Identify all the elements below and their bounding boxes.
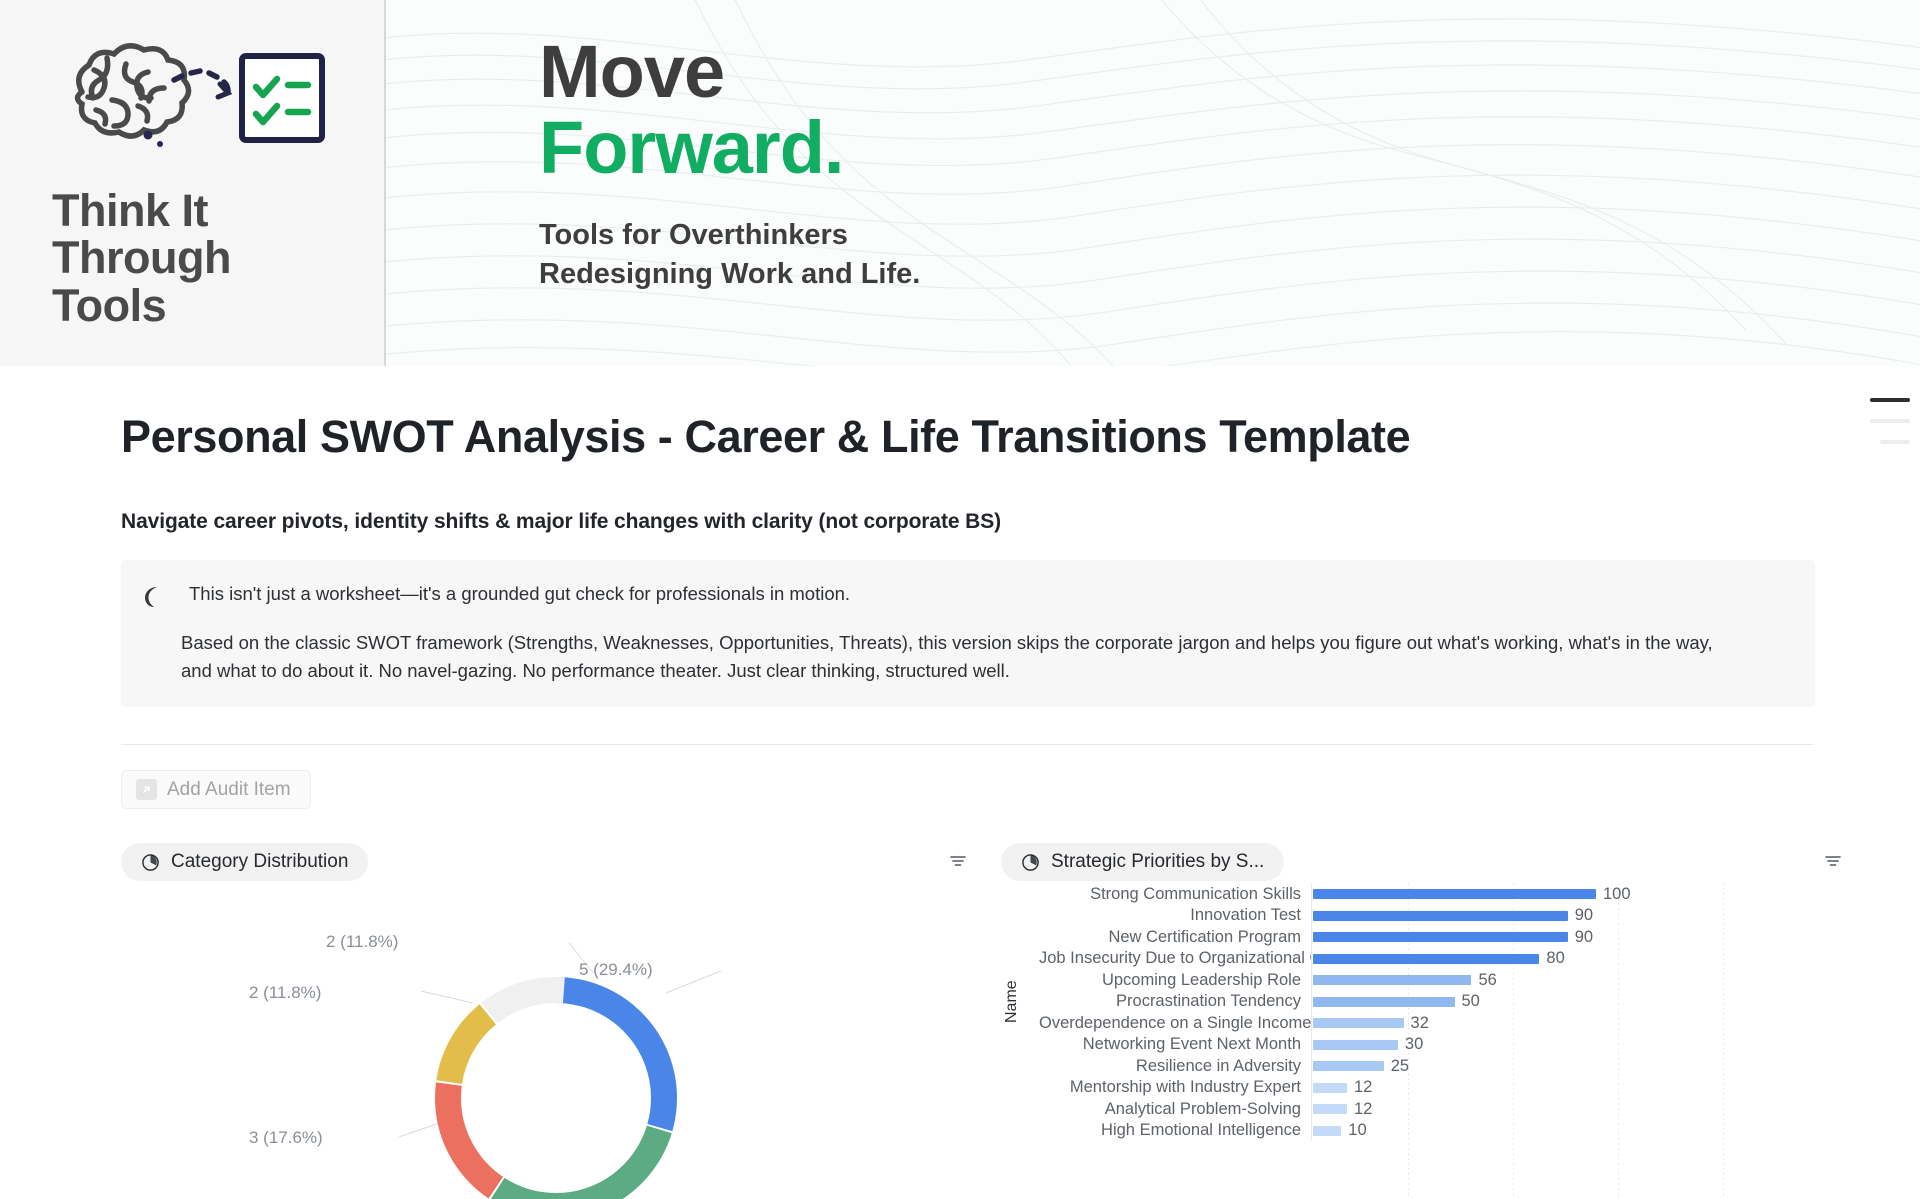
bar-chart-row: Resilience in Adversity25 [1039, 1055, 1871, 1077]
bar-value-label: 10 [1348, 1121, 1366, 1140]
bar-fill[interactable] [1313, 911, 1568, 921]
intro-callout-body: This isn't just a worksheet—it's a groun… [181, 580, 1789, 685]
bar-track: 80 [1311, 948, 1871, 970]
add-audit-item-label: Add Audit Item [167, 779, 291, 801]
bar-category-label: Procrastination Tendency [1039, 992, 1311, 1011]
callout-paragraph: Based on the classic SWOT framework (Str… [181, 629, 1741, 685]
bar-track: 90 [1311, 926, 1871, 948]
strategic-priorities-chart-body: Name Strong Communication Skills100Innov… [1001, 883, 1871, 1199]
bar-fill[interactable] [1313, 1018, 1404, 1028]
strategic-priorities-chip[interactable]: Strategic Priorities by S... [1001, 843, 1284, 881]
bar-category-label: Resilience in Adversity [1039, 1057, 1311, 1076]
checklist-clipboard-icon [242, 56, 322, 140]
bar-fill[interactable] [1313, 954, 1539, 964]
strategic-priorities-header: Strategic Priorities by S... [1001, 841, 1871, 883]
expand-arrow-icon [136, 779, 157, 800]
pie-chart-icon [141, 853, 160, 872]
bar-track: 25 [1311, 1055, 1871, 1077]
bar-chart-row: Overdependence on a Single Income Stre..… [1039, 1012, 1871, 1034]
expand-arrow-icon-svg [140, 783, 153, 796]
logo-pane: Think It Through Tools [0, 0, 386, 366]
bar-chart-y-axis-label: Name [1003, 981, 1021, 1024]
banner-headline-line1: Move [539, 34, 920, 110]
document-body: Personal SWOT Analysis - Career & Life T… [0, 412, 1920, 1199]
bar-chart-rows: Strong Communication Skills100Innovation… [1039, 883, 1871, 1199]
bar-track: 12 [1311, 1098, 1871, 1120]
bar-chart-row: Job Insecurity Due to Organizational Cha… [1039, 948, 1871, 970]
bar-chart-row: New Certification Program90 [1039, 926, 1871, 948]
bar-fill[interactable] [1313, 1104, 1347, 1114]
strategic-priorities-chart-panel: Strategic Priorities by S... Name Strong… [1001, 841, 1871, 1199]
add-audit-item-button[interactable]: Add Audit Item [121, 770, 311, 809]
bar-value-label: 90 [1575, 928, 1593, 947]
filter-icon-svg [1823, 851, 1843, 871]
bar-chart-row: Analytical Problem-Solving12 [1039, 1098, 1871, 1120]
bar-category-label: Networking Event Next Month [1039, 1035, 1311, 1054]
donut-label-grey: 2 (11.8%) [326, 932, 398, 952]
thought-dot-small [157, 141, 163, 147]
bar-category-label: Mentorship with Industry Expert [1039, 1078, 1311, 1097]
strategic-priorities-chip-label: Strategic Priorities by S... [1051, 851, 1264, 873]
bar-value-label: 30 [1405, 1035, 1423, 1054]
bar-value-label: 90 [1575, 906, 1593, 925]
charts-row: Category Distribution [121, 841, 1871, 1199]
horizontal-bar-chart: Name Strong Communication Skills100Innov… [1001, 883, 1871, 1199]
category-distribution-chip-label: Category Distribution [171, 851, 348, 873]
bar-category-label: Analytical Problem-Solving [1039, 1100, 1311, 1119]
donut-ring [448, 990, 664, 1199]
bar-value-label: 56 [1478, 971, 1496, 990]
logo-wordmark-line-3: Tools [52, 282, 384, 329]
bar-chart-row: Upcoming Leadership Role56 [1039, 969, 1871, 991]
bar-fill[interactable] [1313, 1061, 1384, 1071]
bar-track: 90 [1311, 905, 1871, 927]
donut-label-red: 3 (17.6%) [249, 1128, 323, 1148]
banner-tagline-line2: Redesigning Work and Life. [539, 255, 920, 293]
outline-mark-active[interactable] [1870, 398, 1910, 402]
bar-value-label: 25 [1391, 1057, 1409, 1076]
bar-chart-row: Networking Event Next Month30 [1039, 1034, 1871, 1056]
bar-chart-row: Innovation Test90 [1039, 905, 1871, 927]
filter-icon-svg [948, 851, 968, 871]
bar-chart-row: Procrastination Tendency50 [1039, 991, 1871, 1013]
outline-mark-2[interactable] [1880, 440, 1910, 444]
donut-label-blue: 5 (29.4%) [579, 960, 653, 980]
bar-track: 32 [1311, 1012, 1871, 1034]
banner-tagline-line1: Tools for Overthinkers [539, 216, 920, 254]
bar-chart-row: Mentorship with Industry Expert12 [1039, 1077, 1871, 1099]
bar-track: 30 [1311, 1034, 1871, 1056]
bar-fill[interactable] [1313, 975, 1471, 985]
banner-artwork-pane: Move Forward. Tools for Overthinkers Red… [386, 0, 1920, 366]
logo-artwork [52, 40, 342, 165]
bar-fill[interactable] [1313, 1083, 1347, 1093]
bar-value-label: 100 [1603, 885, 1631, 904]
bar-category-label: Overdependence on a Single Income Stre..… [1039, 1014, 1311, 1033]
donut-label-yellow: 2 (11.8%) [249, 983, 321, 1003]
dashed-arrow-icon [174, 71, 228, 97]
bar-track: 56 [1311, 969, 1871, 991]
brand-banner: Think It Through Tools [0, 0, 1920, 366]
section-divider [121, 744, 1813, 745]
logo-svg [52, 40, 342, 165]
bar-value-label: 32 [1411, 1014, 1429, 1033]
bar-track: 12 [1311, 1077, 1871, 1099]
filter-icon[interactable] [1823, 851, 1843, 876]
bar-value-label: 80 [1546, 949, 1564, 968]
tangled-brain-icon [78, 46, 189, 136]
callout-lead-text: This isn't just a worksheet—it's a groun… [181, 580, 1789, 608]
bar-fill[interactable] [1313, 1126, 1341, 1136]
bar-category-label: Innovation Test [1039, 906, 1311, 925]
donut-chart-svg [121, 883, 1001, 1199]
page-subtitle: Navigate career pivots, identity shifts … [121, 510, 1920, 534]
moon-icon-svg [139, 584, 165, 610]
banner-headline-line2: Forward. [539, 110, 920, 186]
bar-value-label: 12 [1354, 1100, 1372, 1119]
category-distribution-header: Category Distribution [121, 841, 1001, 883]
category-distribution-chart-body: 2 (11.8%) 2 (11.8%) 3 (17.6%) 5 (29.4%) [121, 883, 1001, 1199]
bar-category-label: High Emotional Intelligence [1039, 1121, 1311, 1140]
bar-fill[interactable] [1313, 1040, 1398, 1050]
thought-dot-large [144, 131, 153, 140]
intro-callout: This isn't just a worksheet—it's a groun… [121, 560, 1815, 707]
bar-category-label: Upcoming Leadership Role [1039, 971, 1311, 990]
logo-wordmark-line-1: Think It [52, 187, 384, 234]
moon-icon [139, 580, 167, 685]
logo-wordmark: Think It Through Tools [52, 187, 384, 329]
filter-icon[interactable] [948, 851, 968, 876]
pie-chart-icon [1021, 853, 1040, 872]
pie-chart-icon-svg [141, 853, 160, 872]
bar-category-label: Job Insecurity Due to Organizational Cha… [1039, 949, 1311, 968]
bar-track: 100 [1311, 883, 1871, 905]
category-distribution-chip[interactable]: Category Distribution [121, 843, 368, 881]
bar-fill[interactable] [1313, 889, 1596, 899]
logo-wordmark-line-2: Through [52, 234, 384, 281]
bar-category-label: Strong Communication Skills [1039, 885, 1311, 904]
bar-category-label: New Certification Program [1039, 928, 1311, 947]
banner-headline-block: Move Forward. Tools for Overthinkers Red… [539, 34, 920, 293]
donut-chart: 2 (11.8%) 2 (11.8%) 3 (17.6%) 5 (29.4%) [121, 883, 1001, 1199]
page-title: Personal SWOT Analysis - Career & Life T… [121, 412, 1920, 462]
bar-value-label: 12 [1354, 1078, 1372, 1097]
bar-track: 50 [1311, 991, 1871, 1013]
bar-fill[interactable] [1313, 997, 1455, 1007]
banner-tagline: Tools for Overthinkers Redesigning Work … [539, 216, 920, 293]
bar-chart-row: Strong Communication Skills100 [1039, 883, 1871, 905]
bar-chart-row: High Emotional Intelligence10 [1039, 1120, 1871, 1142]
document-outline-indicator[interactable] [1864, 398, 1910, 444]
category-distribution-chart-panel: Category Distribution [121, 841, 1001, 1199]
bar-fill[interactable] [1313, 932, 1568, 942]
bar-value-label: 50 [1462, 992, 1480, 1011]
bar-track: 10 [1311, 1120, 1871, 1142]
outline-mark-1[interactable] [1870, 419, 1910, 423]
pie-chart-icon-svg [1021, 853, 1040, 872]
